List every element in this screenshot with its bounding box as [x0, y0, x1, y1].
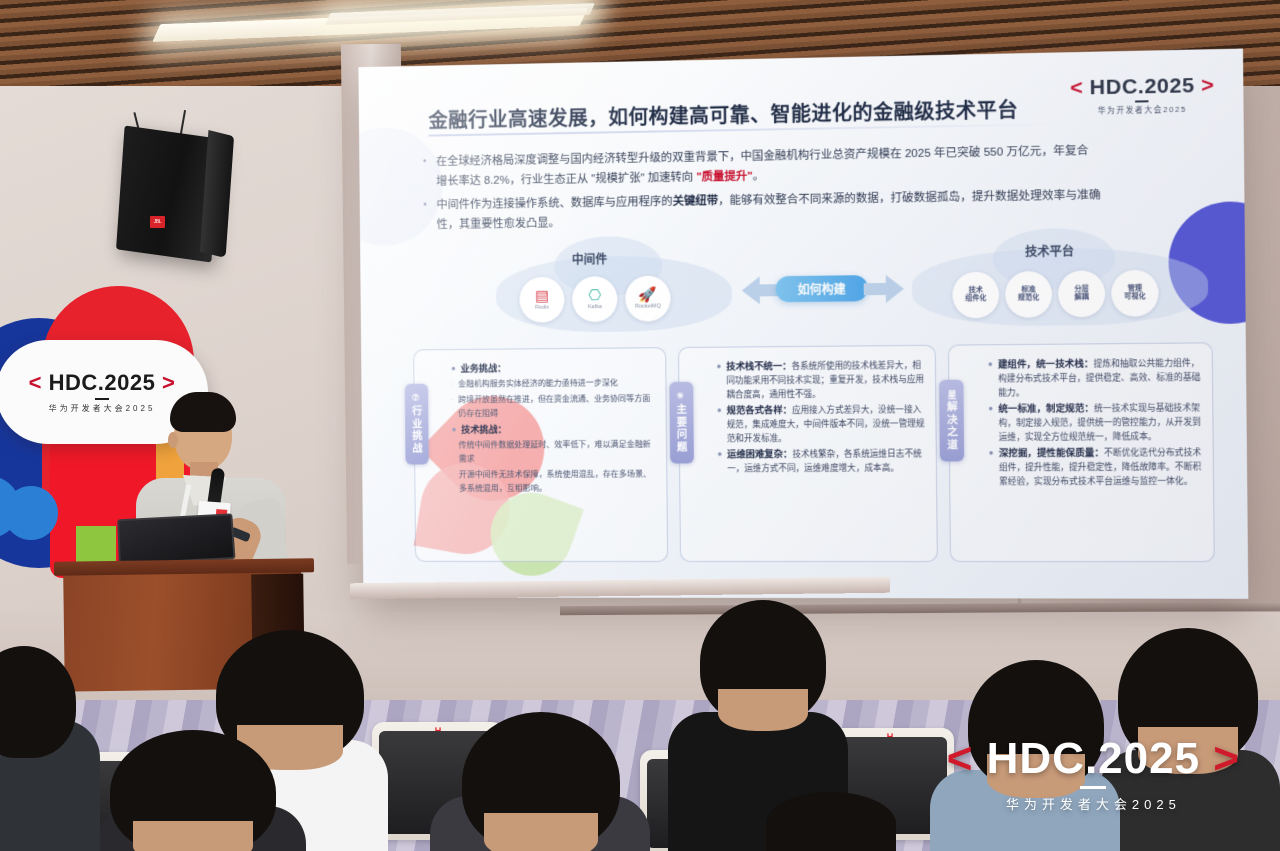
panel-tab-label: 解决之道 [946, 401, 959, 451]
jbl-logo: JBL [150, 216, 165, 228]
platform-chip-standardization: 标准 规范化 [1005, 271, 1052, 318]
kafka-chip: ⎔ Kafka [572, 276, 618, 322]
list-marker-icon: · [451, 378, 453, 392]
platform-chip-row: 技术 组件化 标准 规范化 分层 解耦 管理 可视化 [952, 270, 1159, 319]
audience-head [766, 792, 896, 851]
platform-chip-visualization: 管理 可视化 [1111, 270, 1159, 317]
list-item-bold: 规范各式各样： [727, 404, 792, 415]
bullet-2-line-2: 性，其重要性愈发凸显。 [437, 217, 560, 231]
list-marker-icon: ● [716, 360, 721, 402]
chip-line-1: 技术 [969, 287, 983, 295]
panel-tab-icon: ☀ [676, 392, 686, 404]
list-item: ●建组件，统一技术栈：提炼和抽取公共能力组件，构建分布式技术平台，提供稳定、高效… [988, 356, 1202, 400]
list-marker-icon: ● [989, 446, 994, 488]
list-item-text: 开源中间件无技术保障，系统使用混乱，存在多场景、多系统混用，互相影响。 [459, 468, 657, 496]
panel-tab-label: 行业挑战 [411, 405, 423, 454]
chip-line-2: 可视化 [1124, 293, 1146, 301]
how-to-build-button[interactable]: 如何构建 [776, 275, 868, 302]
list-marker-icon: ● [988, 402, 993, 444]
conference-room-scene: JBL < HDC.2025 > 华为开发者大会2025 [0, 0, 1280, 851]
slide-hdc-logo-sub: 华为开发者大会2025 [1070, 103, 1214, 117]
angle-left-icon: < [29, 370, 42, 395]
list-marker-icon: · [452, 468, 454, 496]
angle-right-icon: > [1213, 734, 1240, 783]
list-item-text: 传统中间件数据处理延时、效率低下，难以满足金融新需求 [459, 438, 657, 467]
bullet-1-line-2-post: 。 [753, 170, 765, 182]
bullet-item: • 中间件作为连接操作系统、数据库与应用程序的关键纽带，能够有效整合不同来源的数… [423, 184, 1213, 236]
watermark-sub: 华为开发者大会2025 [947, 794, 1240, 813]
angle-left-icon: < [1070, 76, 1083, 100]
audience-neck [133, 821, 253, 851]
list-item: ●技术栈不统一：各系统所使用的技术栈差异大，相同功能采用不同技术实现；重复开发，… [716, 358, 925, 402]
list-item-bold: 技术挑战： [461, 424, 507, 435]
chip-line-2: 规范化 [1018, 294, 1039, 302]
audience-neck [484, 813, 598, 851]
bullet-marker-icon: • [423, 196, 427, 235]
list-item: ●运维困难复杂：技术栈繁杂，各系统运维日志不统一，运维方式不同，运维难度增大，成… [717, 446, 926, 475]
chip-line-2: 组件化 [965, 295, 986, 303]
slide-hdc-logo-text: HDC.2025 [1090, 74, 1195, 99]
list-item-bold: 运维困难复杂： [727, 448, 792, 459]
list-item-bold: 深挖掘，提性能保质量： [999, 447, 1104, 459]
panel-tab-label: 主要问题 [675, 404, 687, 454]
presentation-slide: < HDC.2025 > 华为开发者大会2025 金融行业高速发展，如何构建高可… [358, 49, 1248, 599]
audience-head [0, 646, 76, 758]
list-marker-icon: · [452, 439, 454, 467]
panel-tab-icon: 星 [947, 390, 957, 401]
list-item: ●统一标准，制定规范：统一技术实现与基础技术架构，制定接入规范，提供统一的管控能… [988, 400, 1202, 444]
bullet-1-highlight: "质量提升" [696, 171, 753, 184]
list-item-bold: 业务挑战： [461, 362, 507, 373]
list-item-bold: 技术栈不统一： [726, 360, 791, 372]
audience-head [110, 730, 276, 851]
arrow-right-tail [864, 283, 888, 295]
panel-tab-industry-challenges: ⑦行业挑战 [405, 384, 429, 465]
list-item-text: 跨境开放虽然在推进，但在资金流通、业务协同等方面仍存在阻碍 [458, 392, 656, 421]
redis-chip: ▤ Redis [519, 277, 564, 323]
list-item: ●技术挑战： [452, 422, 656, 437]
middleware-chip-row: ▤ Redis ⎔ Kafka 🚀 RocketMQ [519, 275, 671, 322]
panel-main-problems: ☀主要问题 ●技术栈不统一：各系统所使用的技术栈差异大，相同功能采用不同技术实现… [678, 345, 939, 562]
list-item: ·开源中间件无技术保障，系统使用混乱，存在多场景、多系统混用，互相影响。 [452, 468, 656, 496]
chip-line-1: 管理 [1128, 285, 1142, 293]
list-item: ·跨境开放虽然在推进，但在资金流通、业务协同等方面仍存在阻碍 [451, 392, 655, 421]
slide-panel-row: ⑦行业挑战 ●业务挑战： ·金融机构服务实体经济的能力亟待进一步深化 ·跨境开放… [413, 342, 1215, 562]
middleware-group-label: 中间件 [572, 250, 607, 267]
platform-group-label: 技术平台 [1025, 242, 1074, 260]
rocketmq-chip: 🚀 RocketMQ [625, 275, 671, 321]
platform-chip-componentization: 技术 组件化 [952, 272, 999, 319]
list-item-bold: 统一标准，制定规范： [998, 402, 1094, 414]
list-marker-icon: ● [451, 362, 456, 376]
list-marker-icon: · [451, 393, 453, 421]
hdc-watermark: < HDC.2025 > 华为开发者大会2025 [947, 734, 1240, 813]
kafka-icon: ⎔ [588, 288, 601, 303]
panel-tab-solutions: 星解决之道 [939, 380, 964, 462]
list-marker-icon: ● [717, 447, 722, 475]
audience-neck [718, 689, 809, 731]
kafka-label: Kafka [588, 304, 602, 310]
arrow-right-icon [886, 275, 904, 303]
watermark-underline [1080, 786, 1106, 789]
bullet-item: • 在全球经济格局深度调整与国内经济转型升级的双重背景下，中国金融机构行业总资产… [423, 139, 1213, 192]
chip-line-1: 标准 [1021, 286, 1035, 294]
panel-industry-challenges: ⑦行业挑战 ●业务挑战： ·金融机构服务实体经济的能力亟待进一步深化 ·跨境开放… [413, 347, 668, 562]
slide-bullet-list: • 在全球经济格局深度调整与国内经济转型升级的双重背景下，中国金融机构行业总资产… [423, 139, 1214, 239]
slide-hdc-logo: < HDC.2025 > 华为开发者大会2025 [1070, 74, 1215, 117]
list-marker-icon: ● [717, 403, 722, 445]
panel-tab-icon: ⑦ [412, 394, 422, 406]
bullet-marker-icon: • [423, 152, 427, 191]
chip-line-1: 分层 [1074, 286, 1088, 294]
bullet-2-bold: 关键纽带 [673, 195, 719, 208]
angle-right-icon: > [1201, 74, 1214, 98]
projection-screen: < HDC.2025 > 华为开发者大会2025 金融行业高速发展，如何构建高可… [358, 49, 1248, 599]
redis-icon: ▤ [535, 289, 549, 304]
bullet-1-line-2-pre: 增长率达 8.2%，行业生态正从 "规模扩张" 加速转向 [436, 172, 696, 188]
list-item-text: 金融机构服务实体经济的能力亟待进一步深化 [458, 376, 618, 391]
presenter-hair [170, 392, 236, 432]
audience: ᕼ ᕼ ᕼ ᕼ [0, 600, 1280, 851]
panel-tab-main-problems: ☀主要问题 [669, 382, 694, 464]
slide-title: 金融行业高速发展，如何构建高可靠、智能进化的金融级技术平台 [428, 94, 1018, 134]
rocketmq-label: RocketMQ [635, 303, 661, 310]
standee-underline [95, 398, 109, 400]
list-item: ●规范各式各样：应用接入方式差异大，没统一接入规范，集成难度大，中间件版本不同，… [717, 402, 926, 445]
list-marker-icon: ● [452, 423, 457, 437]
presenter-ear [168, 432, 178, 448]
audience-head [462, 712, 620, 851]
list-item: ·传统中间件数据处理延时、效率低下，难以满足金融新需求 [452, 438, 656, 467]
slide-hdc-underline [1135, 100, 1148, 102]
list-item: ·金融机构服务实体经济的能力亟待进一步深化 [451, 376, 655, 391]
chip-line-2: 解耦 [1074, 294, 1088, 302]
laptop-screen [117, 513, 235, 565]
audience-head [700, 600, 826, 724]
bullet-2-line-1-post: ，能够有效整合不同来源的数据，打破数据孤岛，提升数据处理效率与准确 [718, 189, 1101, 207]
panel-solutions: 星解决之道 ●建组件，统一技术栈：提炼和抽取公共能力组件，构建分布式技术平台，提… [948, 342, 1215, 562]
list-marker-icon: ● [988, 357, 993, 399]
rocketmq-icon: 🚀 [639, 287, 658, 302]
bullet-2-line-1-pre: 中间件作为连接操作系统、数据库与应用程序的 [436, 196, 672, 211]
list-item: ●深挖掘，提性能保质量：不断优化迭代分布式技术组件，提升性能，提升稳定性，降低故… [989, 445, 1203, 488]
middleware-platform-diagram: 中间件 ▤ Redis ⎔ Kafka 🚀 RocketMQ [418, 230, 1209, 339]
list-item: ●业务挑战： [451, 360, 655, 375]
redis-label: Redis [535, 304, 549, 310]
bullet-1-line-1: 在全球经济格局深度调整与国内经济转型升级的双重背景下，中国金融机构行业总资产规模… [436, 145, 1089, 168]
list-item-bold: 建组件，统一技术栈： [998, 358, 1094, 370]
platform-chip-layering: 分层 解耦 [1058, 270, 1105, 317]
watermark-text: HDC.2025 [987, 734, 1200, 783]
angle-left-icon: < [947, 734, 974, 783]
